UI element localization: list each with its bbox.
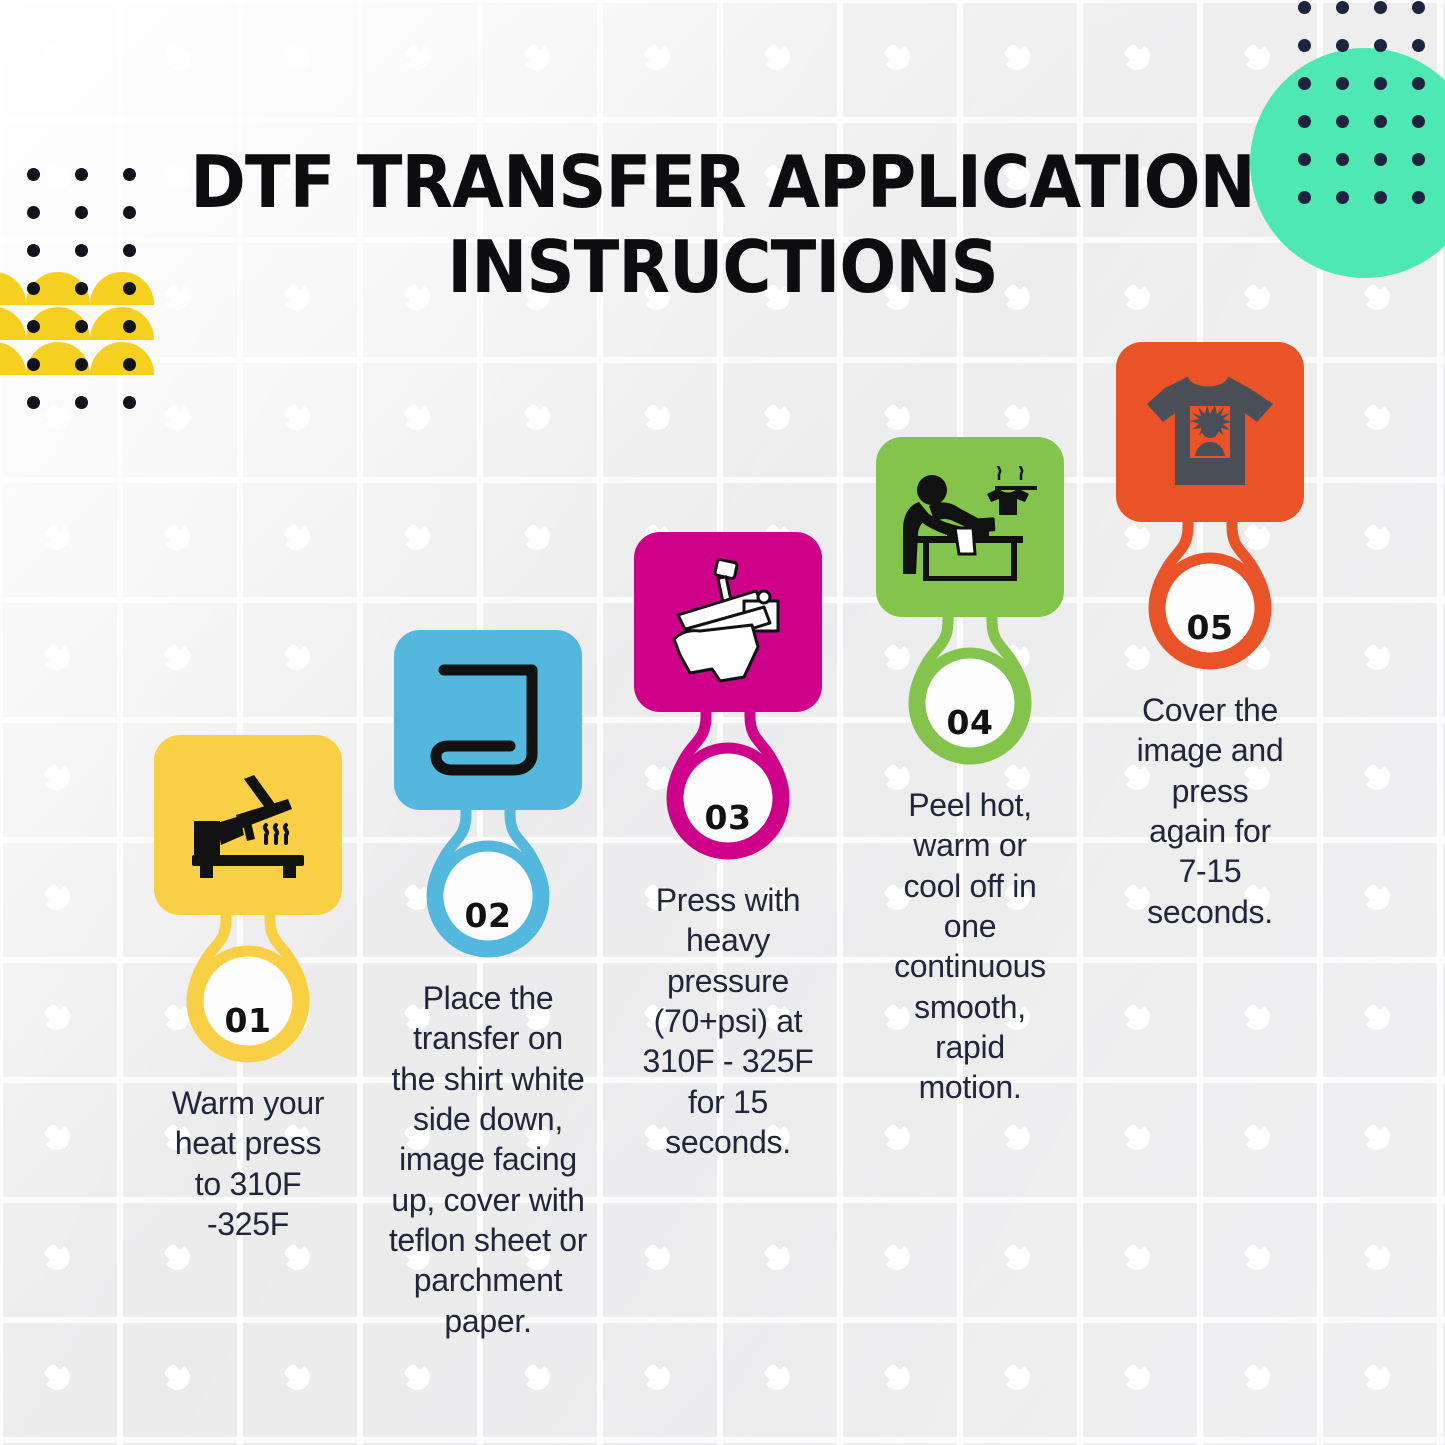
step-card-05[interactable]: 05 Cover the image and press again for 7… bbox=[1085, 342, 1335, 932]
pin-connector-shape bbox=[1085, 516, 1335, 686]
step-card-02[interactable]: 02 Place the transfer on the shirt white… bbox=[363, 630, 613, 1341]
transfer-sheet-icon bbox=[428, 662, 548, 778]
step-03-number: 03 bbox=[603, 798, 853, 837]
step-05-connector: 05 bbox=[1085, 516, 1335, 686]
step-03-icon-card[interactable] bbox=[634, 532, 822, 712]
person-peeling-transfer-icon bbox=[899, 466, 1041, 588]
heat-press-machine-icon bbox=[660, 557, 796, 687]
heat-press-open-icon bbox=[184, 769, 312, 881]
step-01-number: 01 bbox=[123, 1001, 373, 1040]
step-05-caption: Cover the image and press again for 7-15… bbox=[1085, 690, 1335, 932]
step-04-number: 04 bbox=[845, 703, 1095, 742]
step-04-caption: Peel hot, warm or cool off in one contin… bbox=[845, 785, 1095, 1108]
step-01-connector: 01 bbox=[123, 909, 373, 1079]
step-02-number: 02 bbox=[363, 896, 613, 935]
step-05-icon-card[interactable] bbox=[1116, 342, 1304, 522]
pin-connector-shape bbox=[603, 706, 853, 876]
step-card-01[interactable]: 01 Warm your heat press to 310F -325F bbox=[123, 735, 373, 1244]
step-02-connector: 02 bbox=[363, 804, 613, 974]
step-01-icon-card[interactable] bbox=[154, 735, 342, 915]
pin-connector-shape bbox=[845, 611, 1095, 781]
infographic-canvas: DTF TRANSFER APPLICATION INSTRUCTIONS bbox=[0, 0, 1445, 1445]
step-card-04[interactable]: 04 Peel hot, warm or cool off in one con… bbox=[845, 437, 1095, 1108]
pin-connector-shape bbox=[123, 909, 373, 1079]
step-02-caption: Place the transfer on the shirt white si… bbox=[363, 978, 613, 1341]
step-01-caption: Warm your heat press to 310F -325F bbox=[123, 1083, 373, 1244]
step-03-connector: 03 bbox=[603, 706, 853, 876]
pin-connector-shape bbox=[363, 804, 613, 974]
step-card-03[interactable]: 03 Press with heavy pressure (70+psi) at… bbox=[603, 532, 853, 1162]
step-02-icon-card[interactable] bbox=[394, 630, 582, 810]
step-05-number: 05 bbox=[1085, 608, 1335, 647]
step-03-caption: Press with heavy pressure (70+psi) at 31… bbox=[603, 880, 853, 1162]
step-04-icon-card[interactable] bbox=[876, 437, 1064, 617]
steps-container: 01 Warm your heat press to 310F -325F 02… bbox=[0, 0, 1445, 1445]
printed-tshirt-icon bbox=[1143, 370, 1277, 494]
step-04-connector: 04 bbox=[845, 611, 1095, 781]
